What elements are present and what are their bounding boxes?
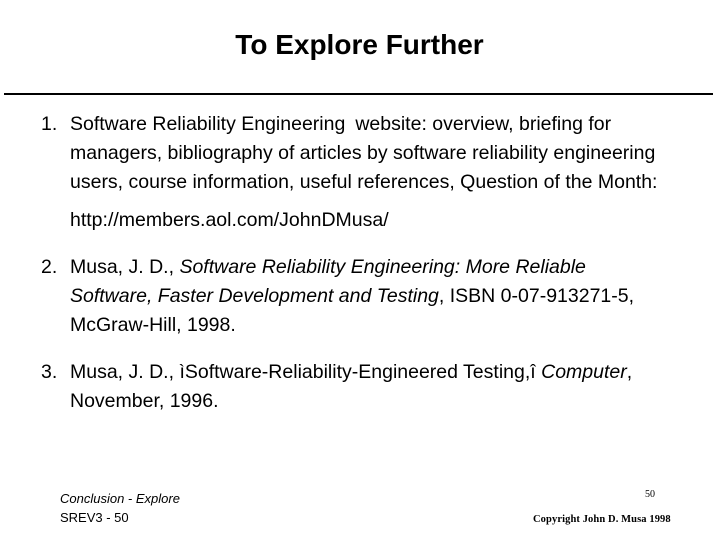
list-item-2-marker: 2. — [41, 253, 67, 282]
list-item-1: 1. Software Reliability Engineeringwebsi… — [0, 110, 719, 197]
page-number: 50 — [645, 489, 685, 501]
list-item-3-journal-title: Computer — [541, 361, 627, 383]
list-item-1-marker: 1. — [41, 110, 67, 139]
list-item-3-marker: 3. — [41, 358, 67, 387]
list-item-3-prefix: Musa, J. D., ìSoftware-Reliability-Engin… — [70, 361, 541, 383]
footer-deck-label: SREV3 - 50 — [60, 508, 180, 527]
page-title: To Explore Further — [0, 28, 719, 62]
website-url[interactable]: http://members.aol.com/JohnDMusa/ — [0, 206, 719, 235]
website-url-text: http://members.aol.com/JohnDMusa/ — [70, 209, 389, 231]
spacer-after-url — [0, 235, 719, 253]
list-item-2: 2. Musa, J. D., Software Reliability Eng… — [0, 253, 719, 340]
list-item-2-text: Musa, J. D., Software Reliability Engine… — [70, 253, 670, 340]
list-item-1-text-part1: Software Reliability Engineering — [70, 113, 345, 135]
list-item-3-text: Musa, J. D., ìSoftware-Reliability-Engin… — [70, 358, 670, 416]
spacer-after-item-2 — [0, 340, 719, 358]
list-item-1-text: Software Reliability Engineeringwebsite:… — [70, 110, 670, 197]
footer-section-label: Conclusion - Explore — [60, 489, 180, 508]
list-item-3: 3. Musa, J. D., ìSoftware-Reliability-En… — [0, 358, 719, 416]
copyright-notice: Copyright John D. Musa 1998 — [533, 513, 671, 526]
slide-canvas: To Explore Further 1. Software Reliabili… — [0, 0, 719, 539]
footer-left: Conclusion - Explore SREV3 - 50 — [60, 489, 180, 527]
slide-body: 1. Software Reliability Engineeringwebsi… — [0, 110, 719, 416]
list-item-2-prefix: Musa, J. D., — [70, 256, 179, 278]
spacer-after-item-1 — [0, 197, 719, 206]
title-divider — [4, 93, 713, 95]
